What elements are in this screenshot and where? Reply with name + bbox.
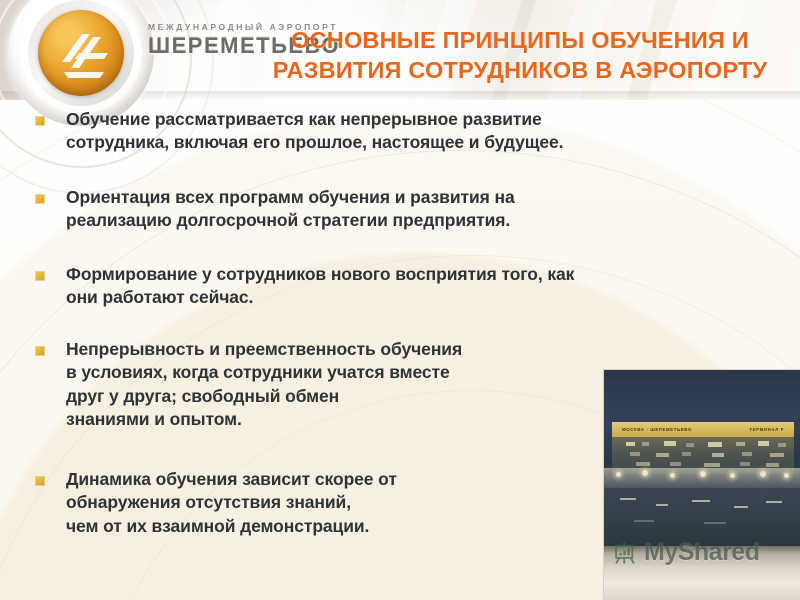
terminal-window: [636, 462, 650, 466]
presentation-easel-icon: [612, 540, 638, 566]
terminal-window: [758, 441, 769, 446]
terminal-sign-right-text: ТЕРМИНАЛ F: [749, 427, 784, 432]
logo-gold-disc: [38, 10, 124, 96]
photo-car-light: [766, 501, 782, 503]
bullet-item: Динамика обучения зависит скорее от обна…: [36, 468, 397, 538]
bullet-marker-square-icon: [36, 195, 44, 203]
bullet-text: Динамика обучения зависит скорее от обна…: [66, 468, 397, 538]
photo-night-sky: [604, 370, 800, 430]
bullet-line: знаниями и опытом.: [66, 408, 462, 431]
terminal-window: [626, 442, 635, 446]
bullet-marker-square-icon: [36, 117, 44, 125]
bullet-marker-square-icon: [36, 477, 44, 485]
photo-lamp: [784, 473, 789, 478]
bullet-marker-square-icon: [36, 272, 44, 280]
presentation-slide: МЕЖДУНАРОДНЫЙ АЭРОПОРТ ШЕРЕМЕТЬЕВО ОСНОВ…: [0, 0, 800, 600]
terminal-window: [630, 452, 640, 456]
photo-car-light: [734, 506, 748, 508]
terminal-window: [736, 442, 745, 446]
bullet-item: Формирование у сотрудников нового воспри…: [36, 263, 574, 310]
myshared-watermark-text: MyShared: [644, 538, 759, 567]
terminal-window: [708, 442, 722, 447]
photo-lamp: [616, 472, 621, 477]
bullet-item: Обучение рассматривается как непрерывное…: [36, 108, 563, 155]
photo-lamp: [730, 473, 735, 478]
bullet-line: Обучение рассматривается как непрерывное…: [66, 108, 563, 131]
terminal-window: [682, 452, 691, 456]
bullet-line: чем от их взаимной демонстрации.: [66, 515, 397, 538]
photo-car-light: [692, 500, 710, 502]
bullet-line: они работают сейчас.: [66, 286, 574, 309]
bullet-text: Обучение рассматривается как непрерывное…: [66, 108, 563, 155]
terminal-window: [742, 452, 752, 456]
bullet-line: Формирование у сотрудников нового воспри…: [66, 263, 574, 286]
slide-title-line-1: ОСНОВНЫЕ ПРИНЦИПЫ ОБУЧЕНИЯ И: [250, 25, 790, 55]
bullet-text: Непрерывность и преемственность обучения…: [66, 338, 462, 431]
myshared-watermark: MyShared: [612, 538, 759, 567]
photo-lamp: [760, 471, 766, 477]
terminal-window: [670, 462, 681, 466]
terminal-window: [686, 443, 694, 447]
bullet-line: Непрерывность и преемственность обучения: [66, 338, 462, 361]
photo-car-light: [620, 498, 636, 500]
photo-car-light: [656, 504, 668, 506]
bullet-item: Непрерывность и преемственность обучения…: [36, 338, 462, 431]
terminal-window: [704, 463, 720, 467]
photo-car-light: [704, 522, 726, 524]
bullet-item: Ориентация всех программ обучения и разв…: [36, 186, 515, 233]
photo-lamp: [700, 471, 706, 477]
bullet-text: Формирование у сотрудников нового воспри…: [66, 263, 574, 310]
terminal-window: [664, 441, 676, 446]
slide-title-line-2: РАЗВИТИЯ СОТРУДНИКОВ В АЭРОПОРТУ: [250, 55, 790, 85]
bullet-marker-square-icon: [36, 347, 44, 355]
bullet-line: обнаружения отсутствия знаний,: [66, 491, 397, 514]
photo-lamp: [642, 470, 648, 476]
bullet-line: Динамика обучения зависит скорее от: [66, 468, 397, 491]
terminal-window: [712, 453, 724, 457]
terminal-window: [766, 463, 779, 467]
photo-car-light: [634, 520, 654, 522]
terminal-sign: МОСКВА - ШЕРЕМЕТЬЕВО ТЕРМИНАЛ F: [612, 422, 794, 437]
airport-terminal-photo: МОСКВА - ШЕРЕМЕТЬЕВО ТЕРМИНАЛ F: [604, 370, 800, 600]
photo-terminal-building: МОСКВА - ШЕРЕМЕТЬЕВО ТЕРМИНАЛ F: [612, 422, 794, 474]
terminal-window: [770, 453, 784, 457]
bullet-text: Ориентация всех программ обучения и разв…: [66, 186, 515, 233]
terminal-window: [740, 462, 750, 466]
slide-title: ОСНОВНЫЕ ПРИНЦИПЫ ОБУЧЕНИЯ И РАЗВИТИЯ СО…: [250, 25, 790, 85]
bullet-line: в условиях, когда сотрудники учатся вмес…: [66, 361, 462, 384]
bullet-line: сотрудника, включая его прошлое, настоящ…: [66, 131, 563, 154]
terminal-sign-left-text: МОСКВА - ШЕРЕМЕТЬЕВО: [622, 427, 692, 432]
terminal-window: [642, 442, 649, 446]
terminal-window: [656, 453, 669, 457]
bullet-line: Ориентация всех программ обучения и разв…: [66, 186, 515, 209]
logo-chevron-mark: [38, 10, 124, 96]
photo-lamp: [670, 473, 675, 478]
terminal-window: [778, 443, 786, 447]
bullet-line: друг у друга; свободный обмен: [66, 385, 462, 408]
bullet-line: реализацию долгосрочной стратегии предпр…: [66, 209, 515, 232]
